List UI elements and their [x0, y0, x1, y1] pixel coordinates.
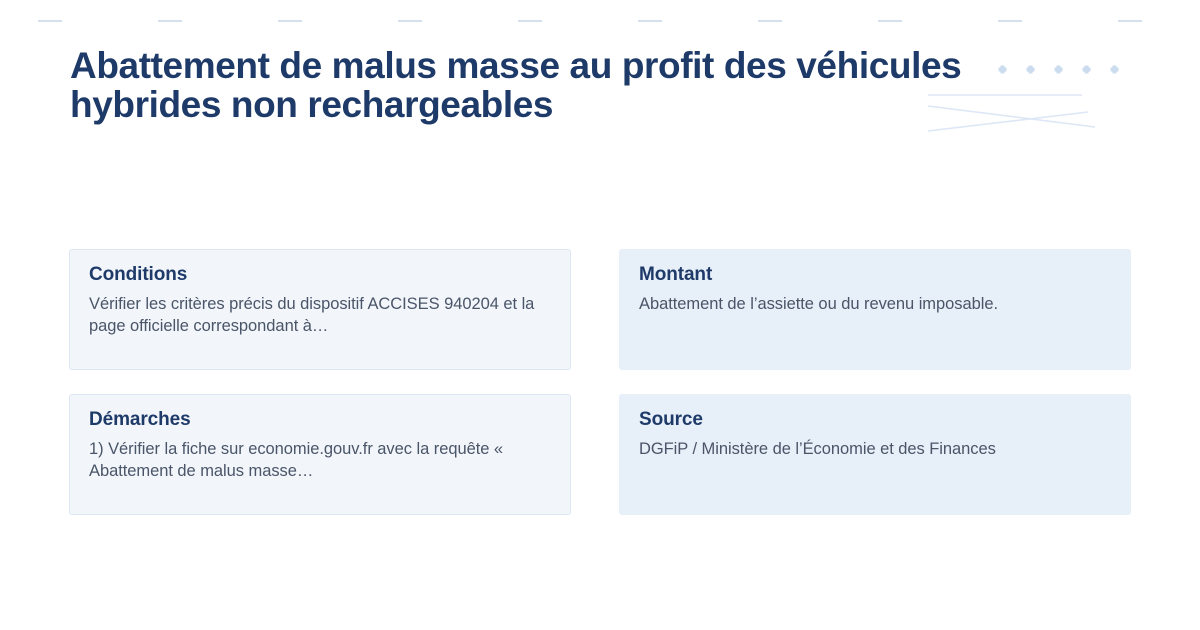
dash-mark [278, 20, 302, 22]
dot-row-ornament [1000, 64, 1124, 78]
dash-mark [1118, 20, 1142, 22]
info-card-source: Source DGFiP / Ministère de l’Économie e… [619, 394, 1131, 515]
dash-mark [638, 20, 662, 22]
diamond-dot-icon [1028, 67, 1033, 72]
card-title: Conditions [89, 265, 552, 286]
info-card-montant: Montant Abattement de l’assiette ou du r… [619, 249, 1131, 370]
info-card-conditions: Conditions Vérifier les critères précis … [69, 249, 571, 370]
dash-mark [158, 20, 182, 22]
page-title: Abattement de malus masse au profit des … [70, 46, 1010, 124]
card-body: DGFiP / Ministère de l’Économie et des F… [639, 439, 1112, 461]
diamond-dot-icon [1084, 67, 1089, 72]
card-body: 1) Vérifier la fiche sur economie.gouv.f… [89, 439, 552, 483]
dash-mark [758, 20, 782, 22]
dash-mark [998, 20, 1022, 22]
card-title: Démarches [89, 410, 552, 431]
dash-mark [38, 20, 62, 22]
dash-mark [518, 20, 542, 22]
info-card-demarches: Démarches 1) Vérifier la fiche sur econo… [69, 394, 571, 515]
card-body: Abattement de l’assiette ou du revenu im… [639, 294, 1112, 316]
dashed-rule-top [38, 20, 1168, 22]
slide-canvas: Abattement de malus masse au profit des … [0, 0, 1200, 630]
dash-mark [878, 20, 902, 22]
card-body: Vérifier les critères précis du disposit… [89, 294, 552, 338]
dash-mark [398, 20, 422, 22]
card-title: Source [639, 410, 1112, 431]
title-block: Abattement de malus masse au profit des … [70, 46, 1010, 124]
diamond-dot-icon [1056, 67, 1061, 72]
card-title: Montant [639, 265, 1112, 286]
diamond-dot-icon [1112, 67, 1117, 72]
info-card-grid: Conditions Vérifier les critères précis … [69, 249, 1131, 515]
